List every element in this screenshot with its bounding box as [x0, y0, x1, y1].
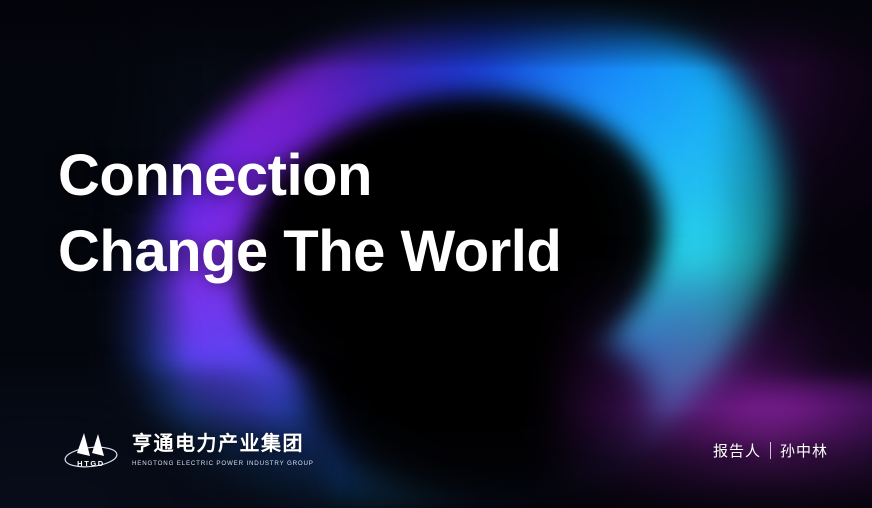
- company-logo-lockup: HTGD 亨通电力产业集团 HENGTONG ELECTRIC POWER IN…: [62, 428, 314, 474]
- htgd-logo-mark-icon: HTGD: [62, 428, 120, 474]
- company-name-cn: 亨通电力产业集团: [132, 433, 314, 456]
- company-name-en: HENGTONG ELECTRIC POWER INDUSTRY GROUP: [132, 458, 314, 469]
- company-logo-text: 亨通电力产业集团 HENGTONG ELECTRIC POWER INDUSTR…: [132, 433, 314, 469]
- slide-content: Connection Change The World HTGD 亨通电力产业集…: [0, 0, 872, 508]
- presenter-label: 报告人: [713, 440, 761, 461]
- headline: Connection Change The World: [58, 138, 561, 290]
- htgd-logo-mark-text: HTGD: [77, 459, 105, 468]
- presenter-separator: [770, 442, 771, 459]
- presenter-name: 孙中林: [780, 440, 828, 461]
- presenter-credit: 报告人 孙中林: [713, 440, 828, 461]
- headline-line-2: Change The World: [58, 214, 561, 290]
- title-slide: Connection Change The World HTGD 亨通电力产业集…: [0, 0, 872, 508]
- headline-line-1: Connection: [58, 138, 561, 214]
